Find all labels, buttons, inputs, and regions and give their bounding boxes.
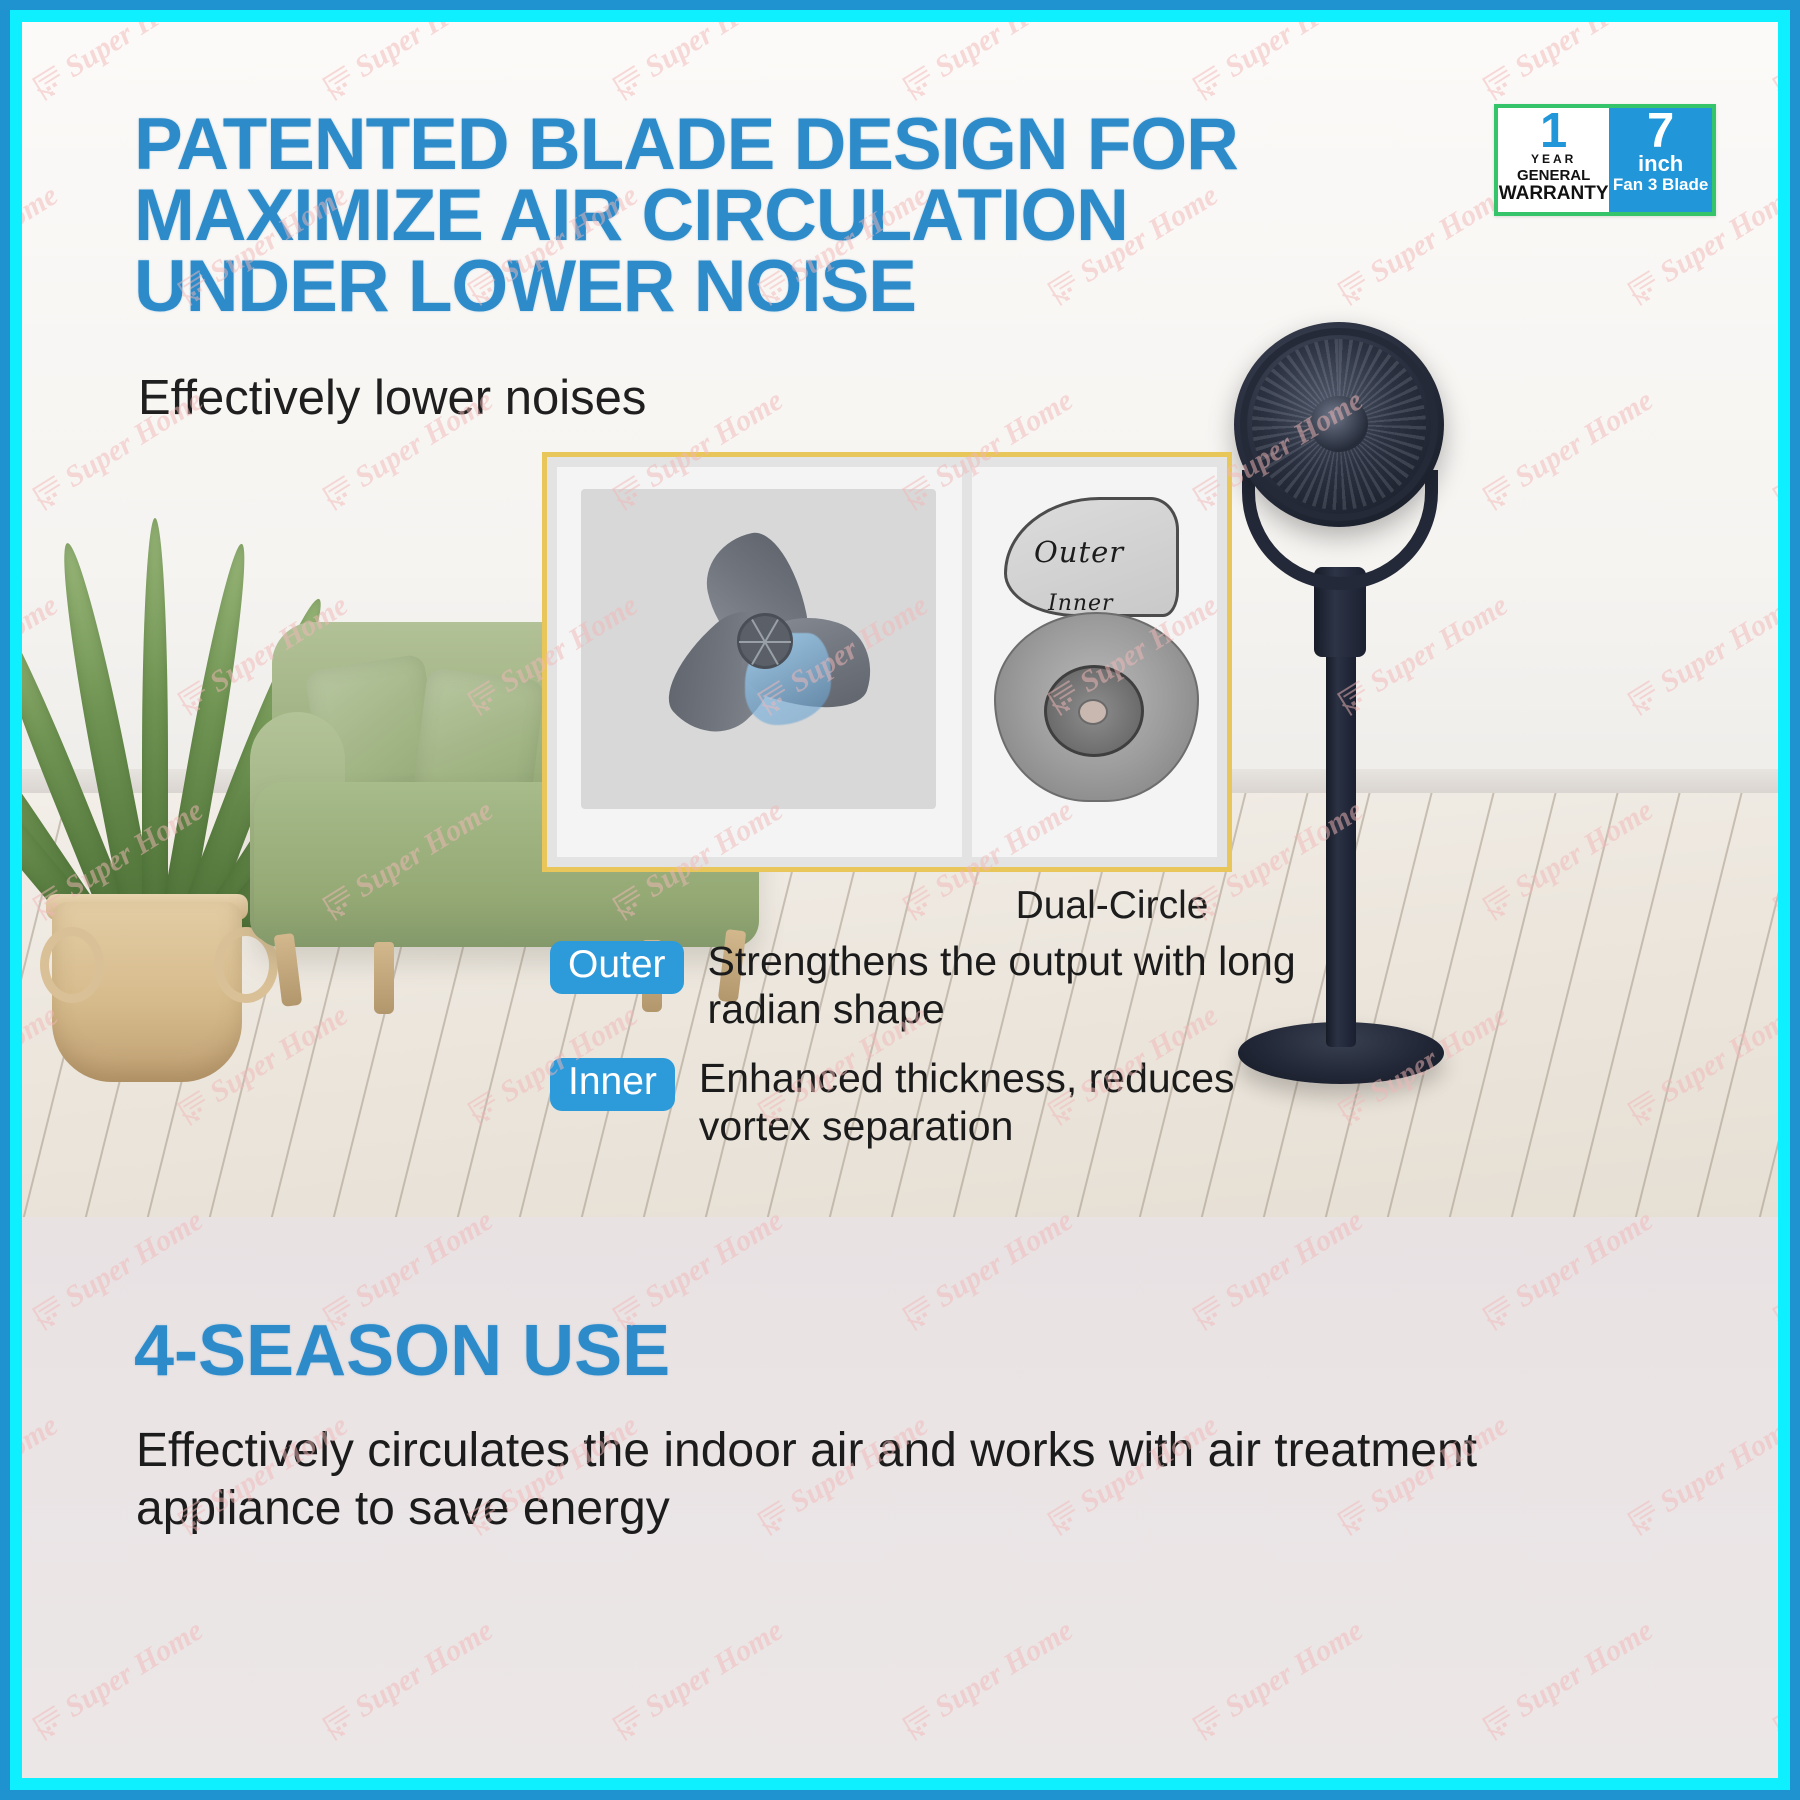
fan-blade-count-label: Fan 3 Blade: [1613, 176, 1708, 195]
warranty-years-number: 1: [1540, 110, 1567, 152]
size-side: 7 inch Fan 3 Blade: [1609, 108, 1712, 212]
status-badge-inner: Inner: [550, 1058, 675, 1111]
feature-row: Inner Enhanced thickness, reduces vortex…: [550, 1054, 1310, 1151]
poster-canvas: Outer Inner Dual-Circle PATENTED BLADE D…: [22, 22, 1778, 1778]
warranty-badge: 1 YEAR GENERAL WARRANTY 7 inch Fan 3 Bla…: [1494, 104, 1716, 216]
fan-size-unit: inch: [1638, 152, 1683, 176]
feature-list: Outer Strengthens the output with long r…: [550, 937, 1310, 1171]
basket-handle-left: [40, 927, 104, 1003]
blade-diagram-panel: Outer Inner: [542, 452, 1232, 872]
hub-spoke: [739, 641, 765, 643]
dual-circle-caption: Dual-Circle: [962, 884, 1262, 928]
warranty-warranty-label: WARRANTY: [1499, 184, 1609, 204]
fan-blade-illustration: [641, 521, 886, 769]
outer-handwritten-label: Outer: [1034, 535, 1124, 569]
blade-top-view: [557, 467, 962, 857]
feature-text-inner: Enhanced thickness, reduces vortex separ…: [699, 1054, 1310, 1151]
fan-pole: [1326, 652, 1356, 1047]
blade-cross-section: Outer Inner: [972, 467, 1217, 857]
floor-plank: [1606, 793, 1764, 1217]
tag-wrap: Inner: [550, 1054, 675, 1111]
bottom-heading: 4-SEASON USE: [134, 1310, 670, 1392]
bottom-body-text: Effectively circulates the indoor air an…: [136, 1422, 1556, 1537]
hub-spoke: [764, 619, 779, 643]
hub-spoke: [764, 642, 779, 666]
floor-plank: [1544, 793, 1702, 1217]
inner-handwritten-label: Inner: [1048, 591, 1114, 616]
fan-head: [1234, 322, 1444, 527]
tag-wrap: Outer: [550, 937, 684, 994]
fan-outer-ring: [1240, 328, 1438, 521]
plant-leaf: [142, 518, 168, 922]
page-title: PATENTED BLADE DESIGN FOR MAXIMIZE AIR C…: [134, 110, 1314, 322]
hub-spoke: [751, 619, 766, 643]
feature-text-outer: Strengthens the output with long radian …: [708, 937, 1310, 1034]
hub-spoke: [751, 642, 766, 666]
fan-size-number: 7: [1647, 110, 1674, 152]
warranty-general-label: GENERAL: [1517, 168, 1590, 184]
warranty-side: 1 YEAR GENERAL WARRANTY: [1498, 108, 1609, 212]
floor-plank: [1482, 793, 1640, 1217]
feature-row: Outer Strengthens the output with long r…: [550, 937, 1310, 1034]
blade-center-hub: [737, 613, 793, 669]
blade-stage: [581, 489, 936, 809]
section-stage: Outer Inner: [986, 487, 1201, 809]
status-badge-outer: Outer: [550, 941, 684, 994]
blade-core: [1078, 699, 1108, 725]
sofa-leg-2: [374, 942, 394, 1014]
floor-plank: [1668, 793, 1778, 1217]
snake-plant-leaves: [62, 502, 262, 922]
subtitle: Effectively lower noises: [138, 370, 646, 426]
warranty-year-label: YEAR: [1531, 152, 1576, 168]
hub-spoke: [765, 641, 791, 643]
floor-plank: [1730, 793, 1778, 1217]
